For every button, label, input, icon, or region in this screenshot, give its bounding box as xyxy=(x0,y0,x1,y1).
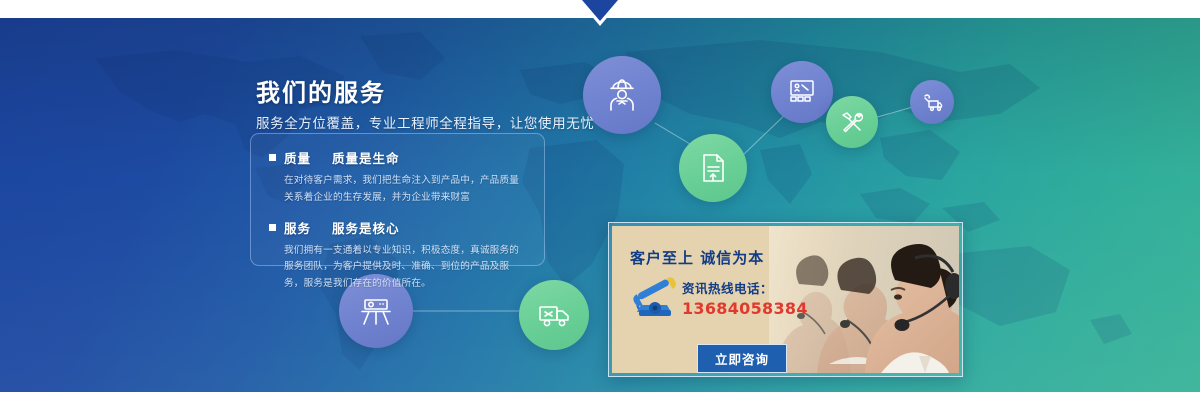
square-bullet-icon xyxy=(269,154,276,161)
node-truck[interactable] xyxy=(519,280,589,350)
hotline-text-group: 资讯热线电话： 13684058384 xyxy=(682,278,808,318)
highlight-heading: 服务 服务是核心 xyxy=(269,218,528,237)
highlight-title: 服务是核心 xyxy=(332,218,400,237)
highlight-title: 质量是生命 xyxy=(332,148,400,167)
contact-card-inner: 客户至上 诚信为本 xyxy=(612,226,959,373)
page-title: 我们的服务 xyxy=(256,78,676,108)
card-slogan: 客户至上 诚信为本 xyxy=(630,247,810,268)
contact-card-text: 客户至上 诚信为本 xyxy=(630,247,810,320)
page-subtitle: 服务全方位覆盖，专业工程师全程指导，让您使用无忧 xyxy=(256,115,676,134)
hotline-label: 资讯热线电话： xyxy=(682,278,808,297)
highlight-item-service: 服务 服务是核心 我们拥有一支通着以专业知识，积极态度，真诚服务的服务团队，为客… xyxy=(269,218,528,293)
training-board-icon xyxy=(786,76,818,108)
document-upload-icon xyxy=(696,151,730,185)
highlight-item-quality: 质量 质量是生命 在对待客户需求，我们把生命注入到产品中，产品质量关系着企业的生… xyxy=(269,148,528,207)
node-document[interactable] xyxy=(679,134,747,202)
highlight-tag: 质量 xyxy=(284,148,311,167)
consult-now-button[interactable]: 立即咨询 xyxy=(697,344,787,373)
highlight-tag: 服务 xyxy=(284,218,311,237)
service-highlights-panel: 质量 质量是生命 在对待客户需求，我们把生命注入到产品中，产品质量关系着企业的生… xyxy=(250,133,545,266)
hotline-row: 资讯热线电话： 13684058384 xyxy=(630,276,810,320)
node-training[interactable] xyxy=(771,61,833,123)
highlight-body: 在对待客户需求，我们把生命注入到产品中，产品质量关系着企业的生存发展，并为企业带… xyxy=(284,173,528,207)
hammer-wrench-icon xyxy=(838,108,866,136)
survey-tripod-icon xyxy=(356,291,396,331)
delivery-hand-icon xyxy=(920,90,944,114)
contact-card: 客户至上 诚信为本 xyxy=(608,222,963,377)
highlight-body: 我们拥有一支通着以专业知识，积极态度，真诚服务的服务团队，为客户提供及时、准确、… xyxy=(284,243,528,293)
square-bullet-icon xyxy=(269,224,276,231)
banner-background: 我们的服务 服务全方位覆盖，专业工程师全程指导，让您使用无忧 质量 质量是生命 … xyxy=(0,18,1200,392)
node-delivery[interactable] xyxy=(910,80,954,124)
hotline-number[interactable]: 13684058384 xyxy=(682,299,808,318)
rotary-telephone-icon xyxy=(630,276,680,320)
highlight-heading: 质量 质量是生命 xyxy=(269,148,528,167)
headline-block: 我们的服务 服务全方位覆盖，专业工程师全程指导，让您使用无忧 xyxy=(256,78,676,134)
delivery-truck-icon xyxy=(535,296,573,334)
service-banner-screenshot: 我们的服务 服务全方位覆盖，专业工程师全程指导，让您使用无忧 质量 质量是生命 … xyxy=(0,0,1200,400)
node-tools[interactable] xyxy=(826,96,878,148)
